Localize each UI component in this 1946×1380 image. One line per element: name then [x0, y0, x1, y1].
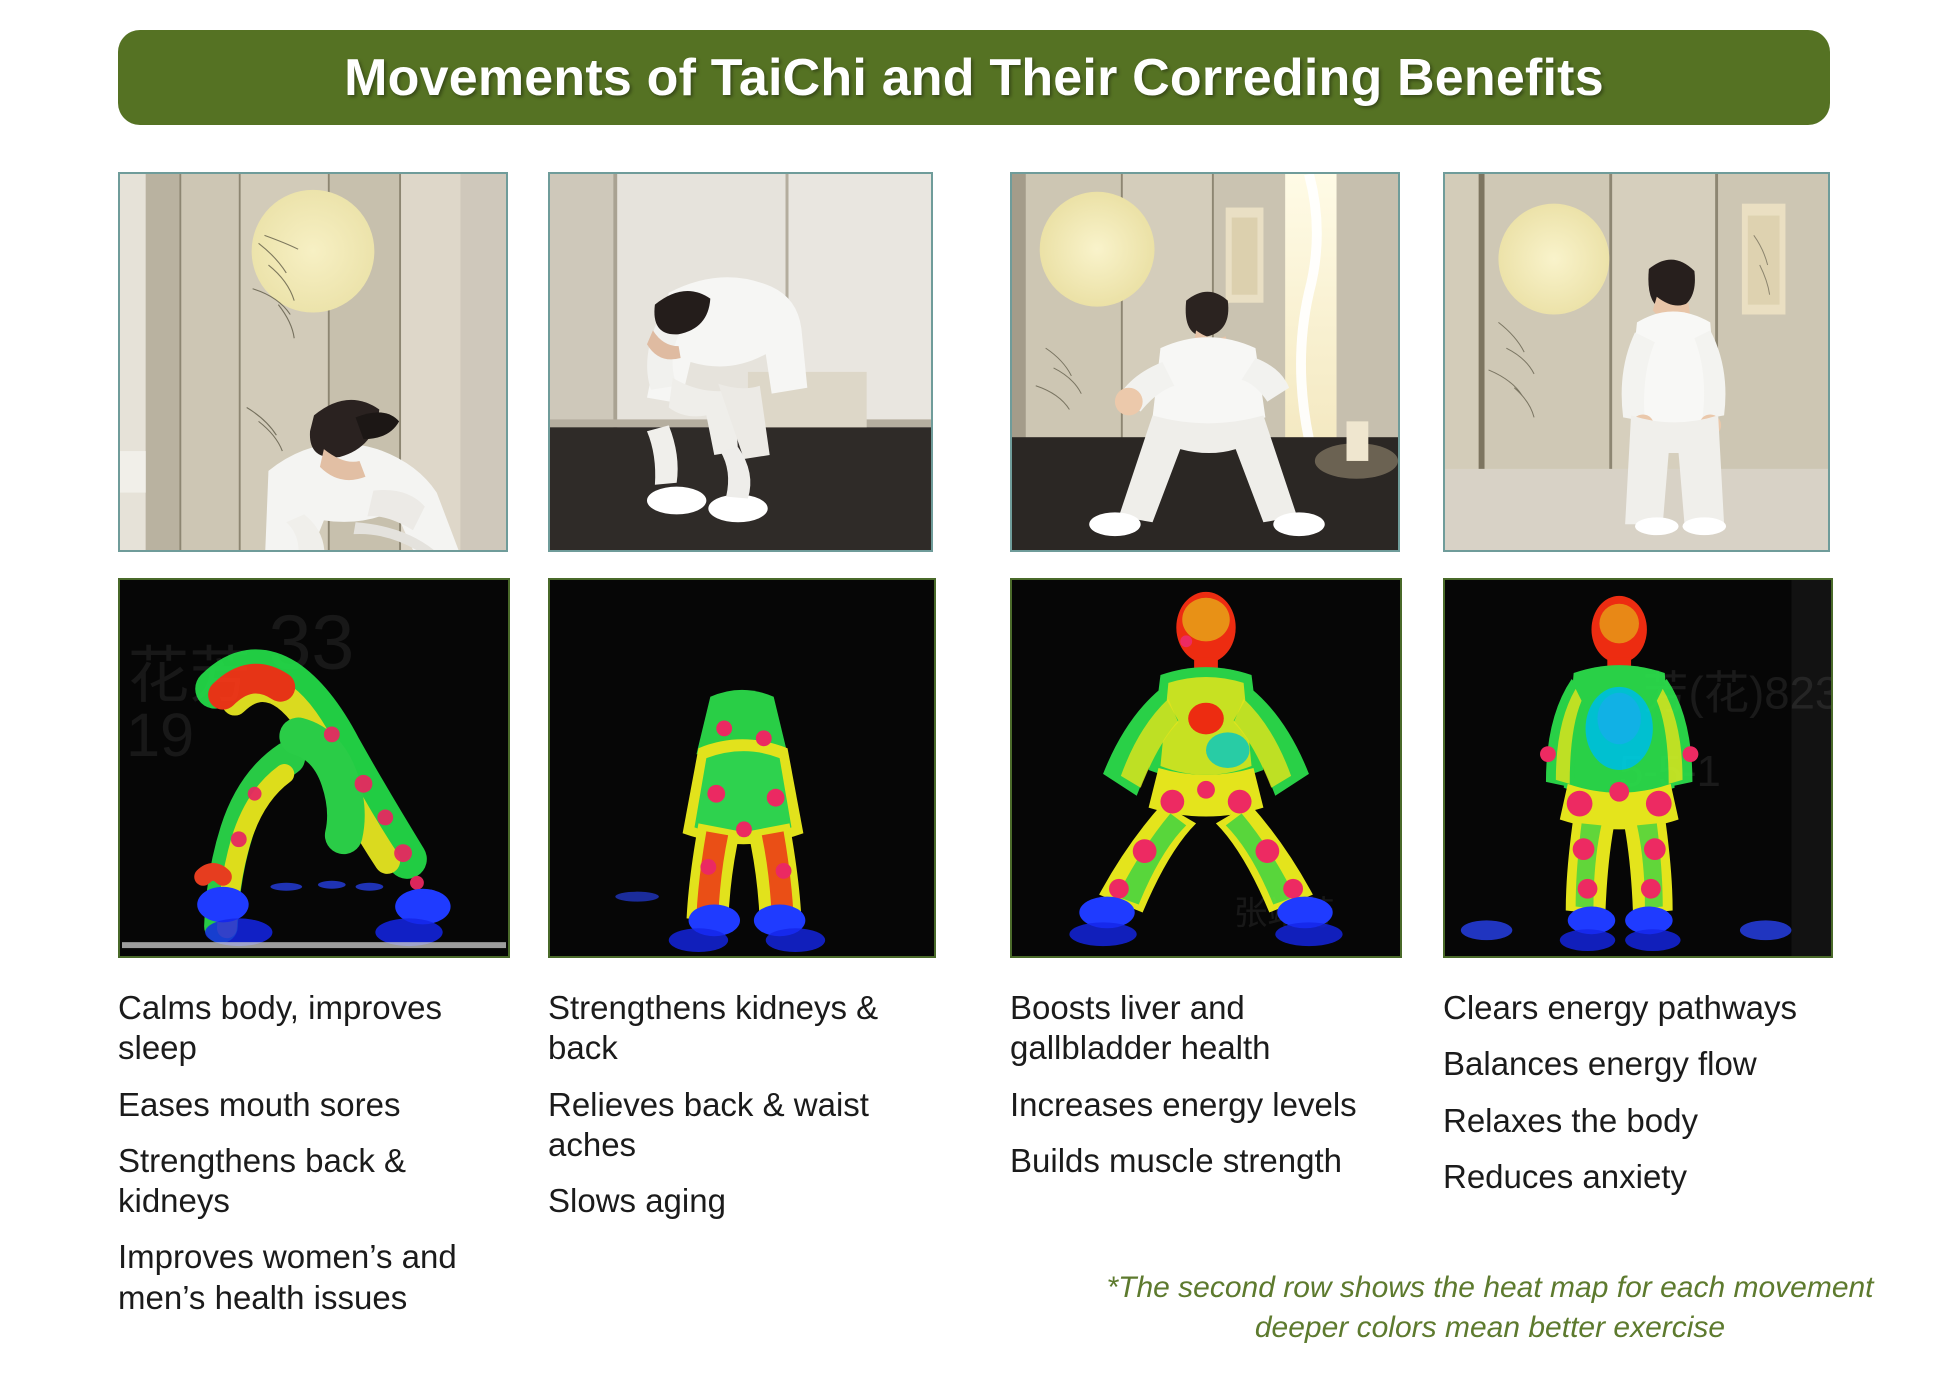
benefit-item: Slows aging [548, 1181, 888, 1221]
photo-forward-fold-art [550, 174, 931, 550]
benefit-item: Reduces anxiety [1443, 1157, 1803, 1197]
benefit-item: Improves women’s and men’s health issues [118, 1237, 458, 1318]
heatmap-standing-art: 芳(花)8233 5-5-1 [1445, 580, 1831, 956]
benefit-item: Increases energy levels [1010, 1085, 1370, 1125]
footnote-line-1: *The second row shows the heat map for e… [1060, 1268, 1920, 1308]
thermal-heatmap-horse-stance: 张靖芳 [1010, 578, 1402, 958]
benefit-item: Builds muscle strength [1010, 1141, 1370, 1181]
photo-bend-side-art [120, 174, 506, 550]
taichi-photo-standing [1443, 172, 1830, 552]
heatmap-footnote: *The second row shows the heat map for e… [1060, 1268, 1920, 1347]
benefit-item: Relaxes the body [1443, 1101, 1803, 1141]
benefit-item: Clears energy pathways [1443, 988, 1803, 1028]
benefit-item: Strengthens back & kidneys [118, 1141, 458, 1222]
heatmap-bend-side-art: 33 花芳 19 [120, 580, 508, 956]
page-title: Movements of TaiChi and Their Correding … [344, 48, 1604, 108]
thermal-heatmap-bend-side: 33 花芳 19 [118, 578, 510, 958]
taichi-photo-forward-fold [548, 172, 933, 552]
benefit-item: Calms body, improves sleep [118, 988, 458, 1069]
taichi-photo-bend-side [118, 172, 508, 552]
benefit-item: Balances energy flow [1443, 1044, 1803, 1084]
footnote-line-2: deeper colors mean better exercise [1060, 1308, 1920, 1348]
benefit-item: Eases mouth sores [118, 1085, 458, 1125]
benefit-item: Boosts liver and gallbladder health [1010, 988, 1370, 1069]
benefits-column-4: Clears energy pathways Balances energy f… [1443, 988, 1803, 1213]
heatmap-horse-stance-art: 张靖芳 [1012, 580, 1400, 956]
benefits-column-2: Strengthens kidneys & back Relieves back… [548, 988, 888, 1237]
title-banner: Movements of TaiChi and Their Correding … [118, 30, 1830, 125]
slide-root: Movements of TaiChi and Their Correding … [0, 0, 1946, 1380]
thermal-heatmap-standing: 芳(花)8233 5-5-1 [1443, 578, 1833, 958]
benefits-column-3: Boosts liver and gallbladder health Incr… [1010, 988, 1370, 1197]
photo-standing-art [1445, 174, 1828, 550]
thermal-heatmap-forward-fold [548, 578, 936, 958]
heatmap-forward-fold-art [550, 580, 934, 956]
benefit-item: Strengthens kidneys & back [548, 988, 888, 1069]
benefits-column-1: Calms body, improves sleep Eases mouth s… [118, 988, 458, 1334]
heatmap-watermark: 19 [126, 701, 194, 770]
photo-horse-stance-art [1012, 174, 1398, 550]
taichi-photo-horse-stance-punch [1010, 172, 1400, 552]
benefit-item: Relieves back & waist aches [548, 1085, 888, 1166]
